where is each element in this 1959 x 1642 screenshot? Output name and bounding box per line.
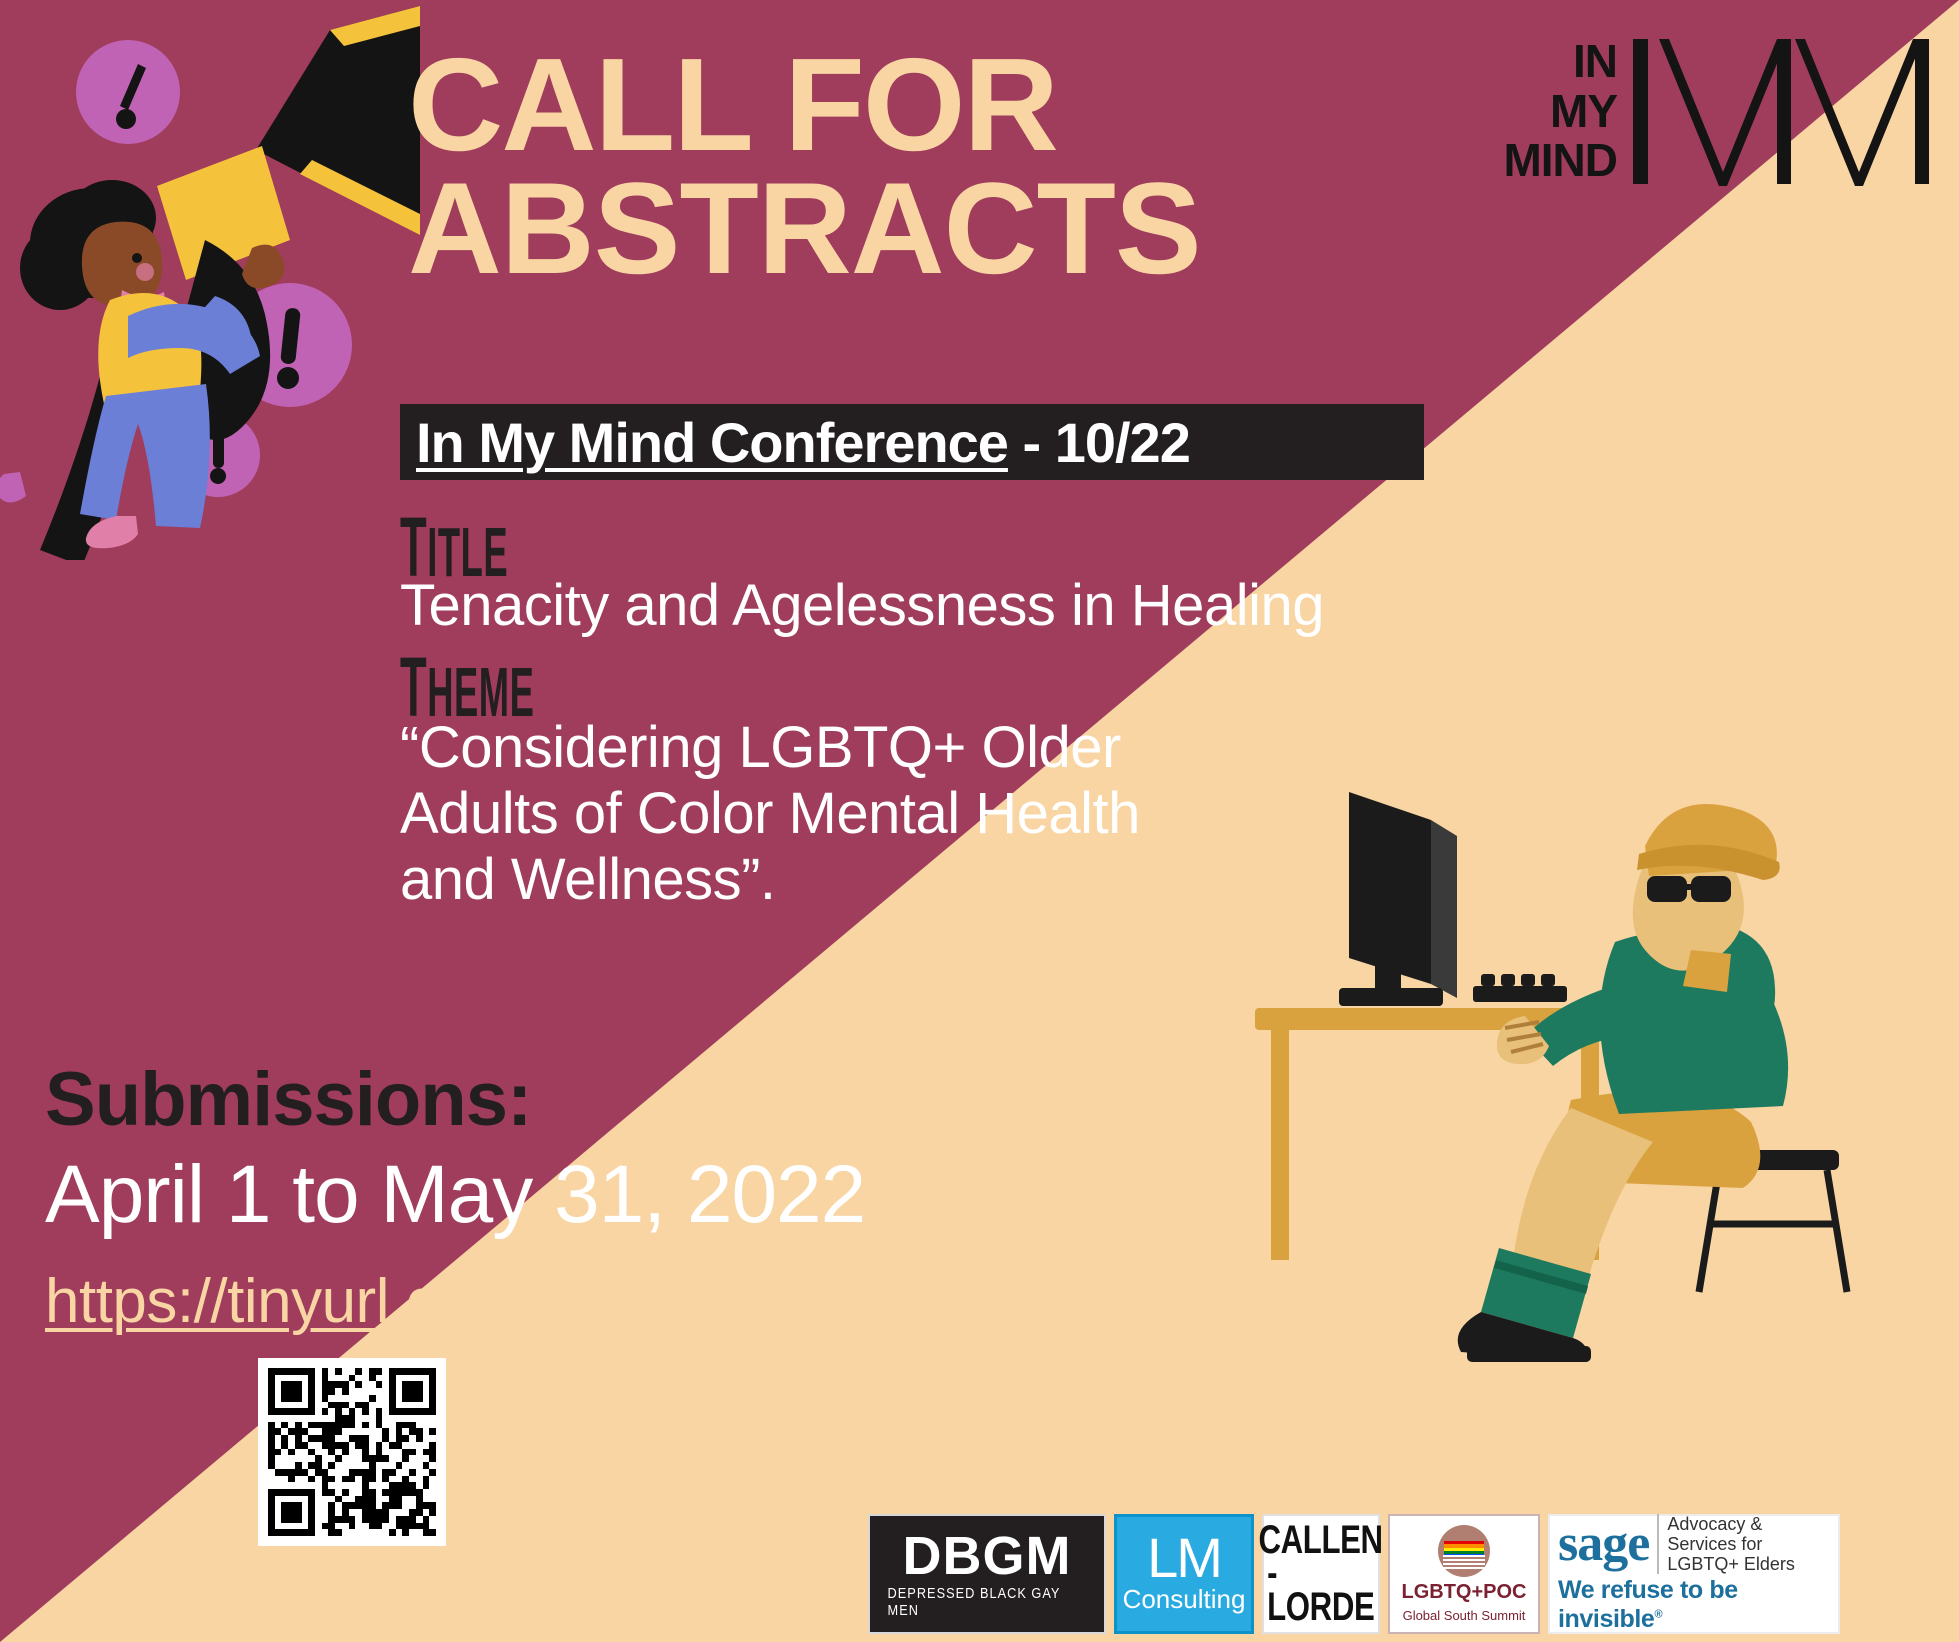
qr-code[interactable] (258, 1358, 446, 1546)
sage-desc-2: Services for (1667, 1534, 1795, 1554)
imm-lettermark-icon (1627, 34, 1937, 189)
dbgm-letters: DBGM (903, 1529, 1072, 1583)
lgbtq-poc-line-2: Global South Summit (1403, 1608, 1526, 1623)
lm-wordmark: LM (1147, 1533, 1221, 1583)
conference-date: - 10/22 (1008, 411, 1190, 474)
headline-line-2: ABSTRACTS (408, 167, 1418, 291)
lm-sublabel: Consulting (1123, 1584, 1246, 1615)
sage-divider (1657, 1514, 1659, 1574)
conference-title-bar: In My Mind Conference - 10/22 (400, 404, 1424, 480)
logo-word-my: MY (1550, 87, 1617, 136)
pride-globe-icon (1438, 1525, 1490, 1577)
dbgm-tagline: DEPRESSED BLACK GAY MEN (888, 1585, 1087, 1619)
logo-word-in: IN (1573, 37, 1617, 86)
title-value-wrap: Tenacity and Agelessness in Healing (400, 573, 1324, 639)
theme-value-line-2: Adults of Color Mental Health (400, 781, 1170, 847)
sage-description: Advocacy & Services for LGBTQ+ Elders (1667, 1514, 1795, 1574)
dbgm-logo: DBGM DEPRESSED BLACK GAY MEN (868, 1514, 1106, 1634)
sage-tagline-text: We refuse to be invisible (1558, 1576, 1738, 1633)
sage-wordmark: sage (1558, 1523, 1649, 1565)
sage-registered-mark: ® (1654, 1609, 1662, 1621)
logo-wordmark: IN MY MIND (1503, 37, 1617, 189)
qr-code-pattern (268, 1368, 436, 1536)
exclamation-badge-icon (76, 40, 180, 144)
lgbtq-poc-logo: LGBTQ+POC Global South Summit (1388, 1514, 1540, 1634)
person-at-computer-illustration (1199, 772, 1959, 1472)
submissions-heading: Submissions: (45, 1056, 531, 1143)
logo-word-mind: MIND (1503, 136, 1617, 185)
poster-canvas: CALL FOR ABSTRACTS IN MY MIND In My Mind… (0, 0, 1959, 1642)
callen-lorde-logo: CALLEN -LORDE (1262, 1514, 1380, 1634)
lgbtq-poc-line-1: LGBTQ+POC (1401, 1581, 1526, 1604)
sage-desc-3: LGBTQ+ Elders (1667, 1554, 1795, 1574)
submissions-dates: April 1 to May 31, 2022 (45, 1148, 865, 1242)
callen-lorde-line-2: -LORDE (1267, 1557, 1374, 1624)
title-value: Tenacity and Agelessness in Healing (400, 573, 1324, 639)
in-my-mind-logo: IN MY MIND (1503, 34, 1937, 189)
page-title: CALL FOR ABSTRACTS (408, 42, 1418, 291)
theme-value-line-1: “Considering LGBTQ+ Older (400, 715, 1170, 781)
theme-value-wrap: “Considering LGBTQ+ Older Adults of Colo… (400, 715, 1170, 913)
sage-desc-1: Advocacy & (1667, 1514, 1795, 1534)
theme-value-line-3: and Wellness”. (400, 847, 1170, 913)
partner-logo-strip: DBGM DEPRESSED BLACK GAY MEN LM Consulti… (868, 1514, 1840, 1634)
lm-consulting-logo: LM Consulting (1114, 1514, 1254, 1634)
conference-name: In My Mind Conference (416, 411, 1008, 474)
conference-title-text: In My Mind Conference - 10/22 (416, 410, 1190, 475)
callen-lorde-line-1: CALLEN (1259, 1524, 1383, 1558)
sage-tagline: We refuse to be invisible® (1558, 1576, 1830, 1634)
sage-logo: sage Advocacy & Services for LGBTQ+ Elde… (1548, 1514, 1840, 1634)
woman-with-megaphone-illustration (0, 0, 420, 560)
dbgm-wordmark: DBGM (903, 1529, 1072, 1583)
sage-top-row: sage Advocacy & Services for LGBTQ+ Elde… (1558, 1514, 1795, 1574)
submissions-url-link[interactable]: https://tinyurl.com/AbSub2022 (45, 1266, 858, 1337)
